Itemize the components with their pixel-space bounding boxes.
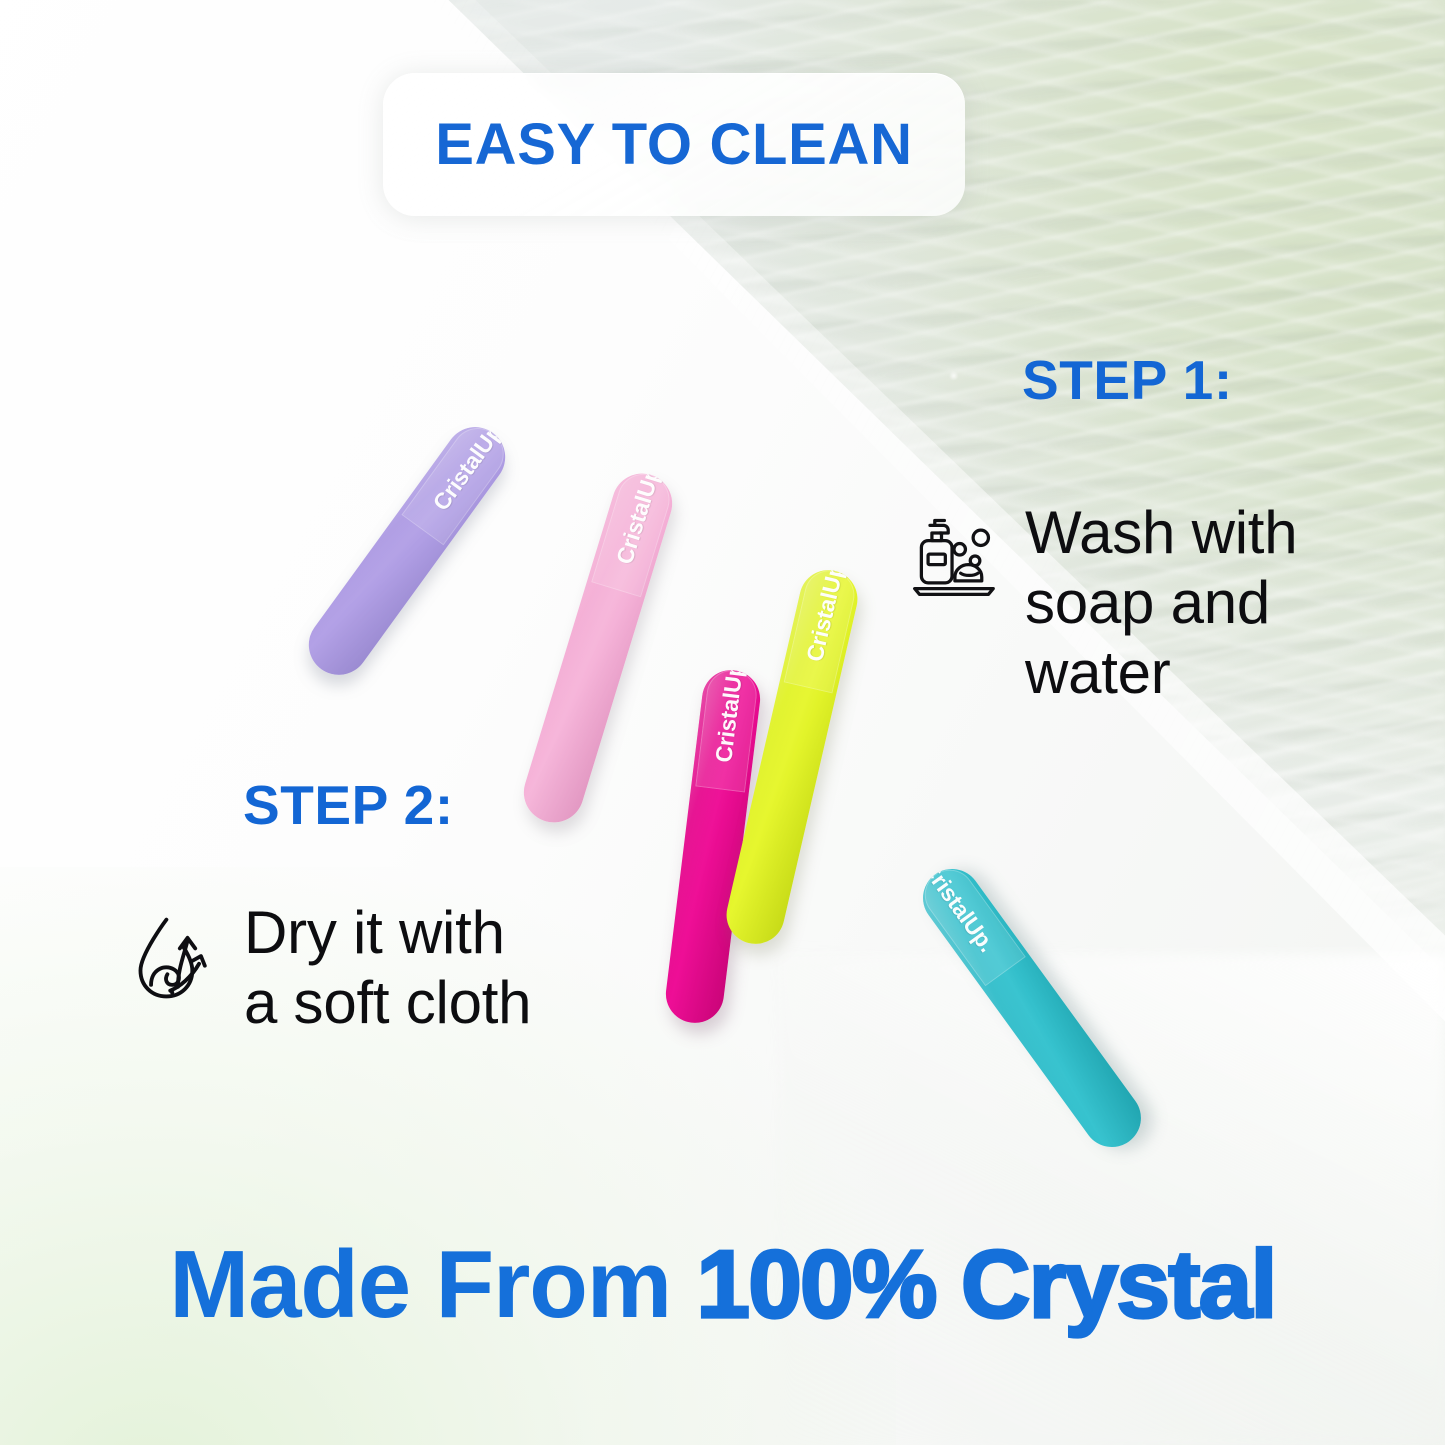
step-1-heading: STEP 1:	[1022, 348, 1233, 412]
soap-dispenser-icon	[905, 510, 1001, 602]
paper-fold-highlight	[780, 954, 1445, 1445]
step-2-row: Dry it with a soft cloth	[128, 898, 531, 1038]
bottom-headline: Made From 100% Crystal	[0, 1237, 1445, 1333]
step-1-text: Wash with soap and water	[1025, 498, 1297, 709]
easy-to-clean-badge: EASY TO CLEAN	[383, 73, 965, 216]
badge-title: EASY TO CLEAN	[435, 111, 912, 178]
water-droplet-drying-icon	[128, 910, 224, 1006]
product-infographic: EASY TO CLEAN CristalUp. CristalUp. Cris…	[0, 0, 1445, 1445]
step-2-text: Dry it with a soft cloth	[244, 898, 531, 1038]
headline-light-part: Made From	[169, 1231, 696, 1338]
step-2-heading: STEP 2:	[243, 773, 454, 837]
headline-heavy-part: 100% Crystal	[696, 1231, 1275, 1338]
step-1-row: Wash with soap and water	[905, 498, 1297, 709]
